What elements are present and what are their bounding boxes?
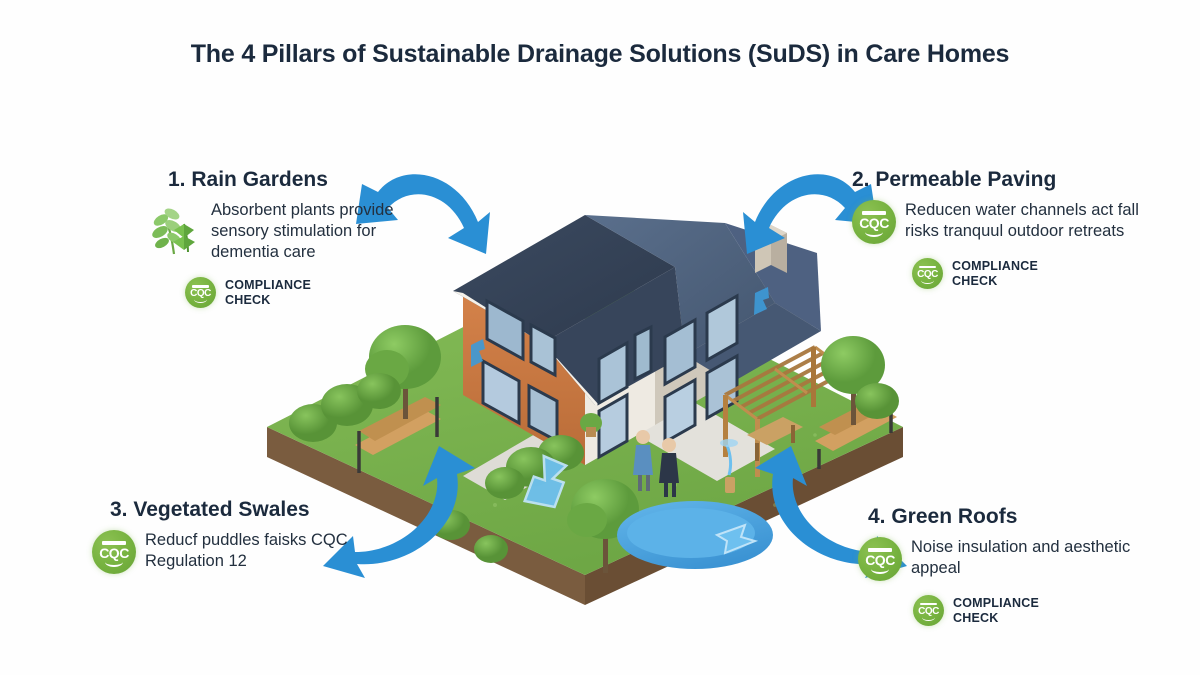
compliance-line-1: COMPLIANCE <box>225 278 311 292</box>
compliance-check-label: COMPLIANCE CHECK <box>952 259 1038 289</box>
compliance-line-2: CHECK <box>953 611 998 625</box>
pillar-vegetated-swales: 3. Vegetated Swales CQC Reducf puddles f… <box>92 498 362 574</box>
pillar-description-rain-gardens: Absorbent plants provide sensory stimula… <box>211 200 415 263</box>
pillar-title-permeable-paving: 2. Permeable Paving <box>852 168 1152 192</box>
compliance-check-label: COMPLIANCE CHECK <box>225 278 311 308</box>
cqc-logo-icon: CQC <box>858 537 902 581</box>
infographic-page: The 4 Pillars of Sustainable Drainage So… <box>0 0 1200 675</box>
pillar-description-permeable-paving: Reducen water channels act fall risks tr… <box>905 200 1152 242</box>
compliance-line-1: COMPLIANCE <box>953 596 1039 610</box>
pond <box>617 501 773 569</box>
compliance-line-1: COMPLIANCE <box>952 259 1038 273</box>
pillar-description-green-roofs: Noise insulation and aesthetic appeal <box>911 537 1138 579</box>
compliance-check-label: COMPLIANCE CHECK <box>953 596 1039 626</box>
pillar-permeable-paving: 2. Permeable Paving CQC Reducen water ch… <box>852 168 1152 289</box>
compliance-check-badge-green-roofs: CQC COMPLIANCE CHECK <box>858 595 1138 626</box>
cqc-logo-icon: CQC <box>92 530 136 574</box>
pillar-rain-gardens: 1. Rain Gardens <box>150 168 415 308</box>
compliance-line-2: CHECK <box>952 274 997 288</box>
cqc-logo-icon: CQC <box>852 200 896 244</box>
compliance-check-badge-permeable-paving: CQC COMPLIANCE CHECK <box>852 258 1152 289</box>
compliance-line-2: CHECK <box>225 293 270 307</box>
cqc-logo-icon: CQC <box>913 595 944 626</box>
page-title: The 4 Pillars of Sustainable Drainage So… <box>0 40 1200 69</box>
pillar-green-roofs: 4. Green Roofs CQC Noise insulation and … <box>858 505 1138 626</box>
plant-sprig-icon <box>150 200 202 258</box>
cqc-logo-icon: CQC <box>912 258 943 289</box>
pillar-title-rain-gardens: 1. Rain Gardens <box>150 168 415 192</box>
pillar-description-vegetated-swales: Reducf puddles faisks CQC Regulation 12 <box>145 530 362 572</box>
pillar-title-vegetated-swales: 3. Vegetated Swales <box>92 498 362 522</box>
cqc-logo-icon: CQC <box>185 277 216 308</box>
compliance-check-badge-rain-gardens: CQC COMPLIANCE CHECK <box>150 277 415 308</box>
pillar-title-green-roofs: 4. Green Roofs <box>858 505 1138 529</box>
